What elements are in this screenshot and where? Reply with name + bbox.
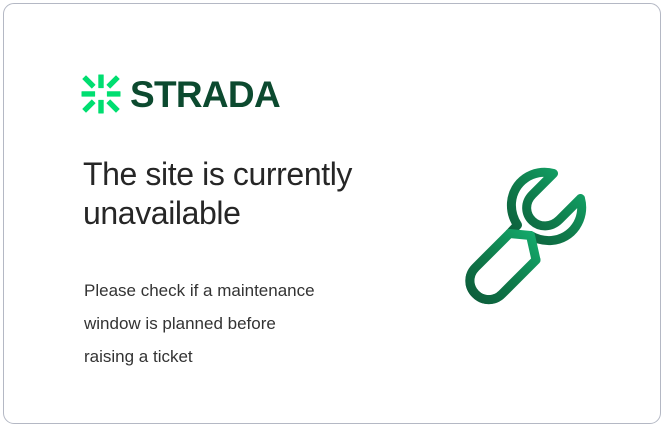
error-page: STRADA The site is currently unavailable… bbox=[0, 0, 666, 436]
message-body: Please check if a maintenance window is … bbox=[84, 274, 384, 373]
message-body-line: raising a ticket bbox=[84, 340, 384, 373]
wrench-icon bbox=[459, 156, 619, 316]
strada-asterisk-icon bbox=[81, 74, 121, 114]
status-card: STRADA The site is currently unavailable… bbox=[3, 3, 661, 424]
brand-wordmark: STRADA bbox=[130, 76, 280, 113]
brand-lockup: STRADA bbox=[81, 74, 280, 114]
message-body-line: window is planned before bbox=[84, 307, 384, 340]
message-body-line: Please check if a maintenance bbox=[84, 274, 384, 307]
page-title: The site is currently unavailable bbox=[83, 155, 413, 233]
